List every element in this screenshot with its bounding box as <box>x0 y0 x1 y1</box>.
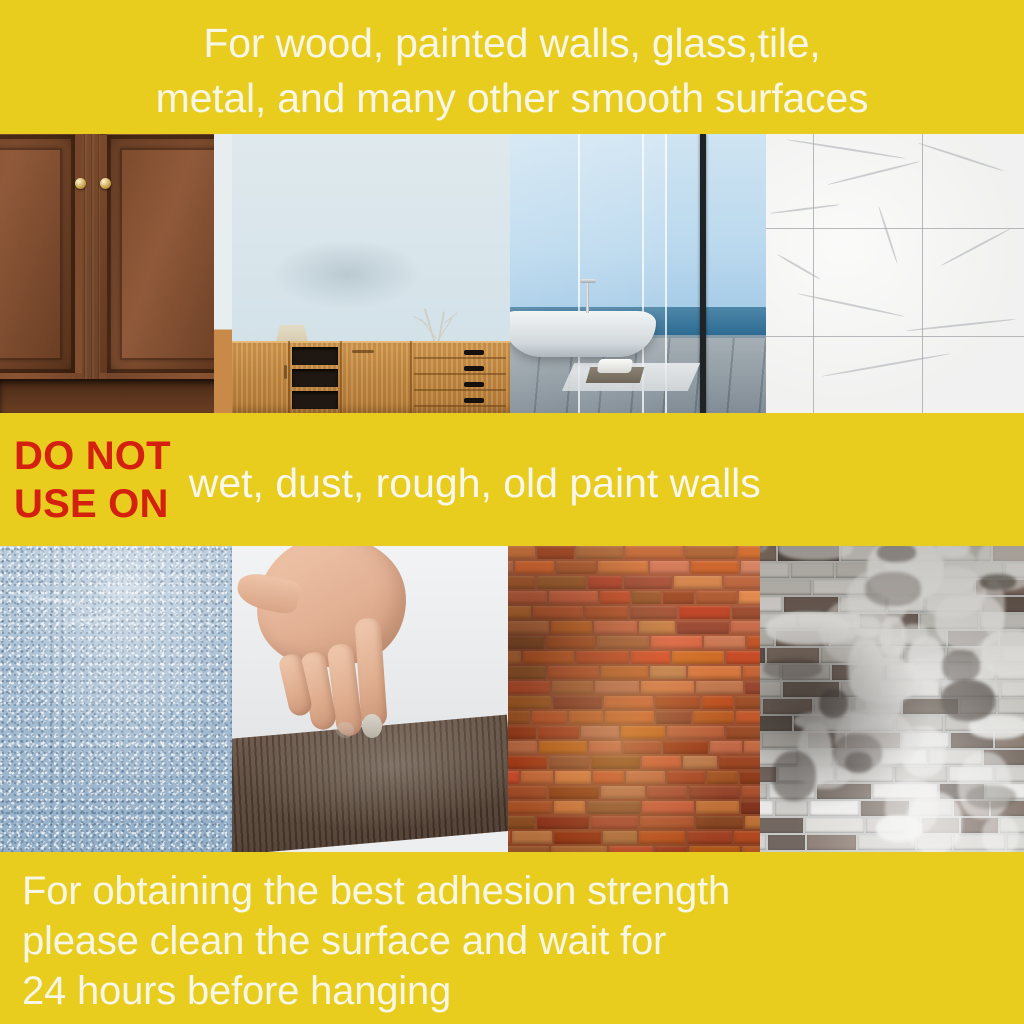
sideboard-seam-1 <box>288 341 290 413</box>
instructions-text: For obtaining the best adhesion strength… <box>22 866 1024 1016</box>
wall-shadow <box>272 239 422 309</box>
sideboard-seam-3 <box>410 341 412 413</box>
top-text-band: For wood, painted walls, glass,tile, met… <box>0 0 1024 134</box>
panel-old-paint-wall <box>760 546 1024 852</box>
suitable-surfaces-row <box>0 134 1024 413</box>
glass-frame-post <box>700 134 706 413</box>
tile-grout-vertical-1 <box>813 134 814 413</box>
tile-grout-horizontal-2 <box>766 336 1024 337</box>
panel-wet-surface <box>0 546 232 852</box>
drawer-line-1 <box>414 357 506 359</box>
sideboard-cubby-1 <box>292 347 338 365</box>
panel-marble-tile <box>766 134 1024 413</box>
panel-rough-brick-wall <box>508 546 760 852</box>
panel-glass-bathroom <box>510 134 766 413</box>
sideboard-seam-2 <box>340 341 342 413</box>
warning-text-band: DO NOT USE ON wet, dust, rough, old pain… <box>0 413 1024 546</box>
bottom-text-band: For obtaining the best adhesion strength… <box>0 852 1024 1024</box>
do-not-use-label: DO NOT USE ON <box>14 432 189 528</box>
tile-sheen <box>766 134 1024 413</box>
cabinet-base-moulding <box>0 379 232 413</box>
warning-surfaces-text: wet, dust, rough, old paint walls <box>189 453 1024 507</box>
drawer-line-4 <box>414 405 506 407</box>
water-streak-3 <box>100 576 150 600</box>
panel-dusty-surface <box>232 546 508 852</box>
cabinet-knob-left <box>75 178 86 189</box>
old-paint-lighting <box>760 546 1024 852</box>
drawer-slot-4 <box>464 398 484 403</box>
sideboard-handle <box>352 350 374 353</box>
drawer-slot-2 <box>464 366 484 371</box>
glass-pane-1 <box>510 134 578 413</box>
folded-towels <box>597 359 633 373</box>
tile-grout-vertical-2 <box>922 134 923 413</box>
fingernail-middle <box>336 722 354 738</box>
vase-branch-6 <box>444 313 457 324</box>
cabinet-knob-right <box>100 178 111 189</box>
tile-grout-horizontal-1 <box>766 228 1024 229</box>
dust-on-fingertip <box>362 714 382 738</box>
sideboard-cubby-3 <box>292 391 338 409</box>
unsuitable-surfaces-row <box>0 546 1024 852</box>
sideboard-handle-side <box>284 365 287 379</box>
cabinet-door-right <box>100 134 232 380</box>
tub-faucet-spout <box>580 279 596 283</box>
cabinet-door-left <box>0 134 82 380</box>
top-headline: For wood, painted walls, glass,tile, met… <box>18 16 1006 126</box>
tub-faucet-stem <box>586 279 589 313</box>
brick-lighting <box>508 546 760 852</box>
drawer-line-2 <box>414 373 506 375</box>
sideboard-cubby-2 <box>292 369 338 387</box>
product-infographic: For wood, painted walls, glass,tile, met… <box>0 0 1024 1024</box>
freestanding-bathtub <box>510 311 656 357</box>
panel-wood-cabinet <box>0 134 232 413</box>
drawer-slot-3 <box>464 382 484 387</box>
drawer-line-3 <box>414 389 506 391</box>
drawer-slot-1 <box>464 350 484 355</box>
cabinet-side-wall <box>214 134 232 413</box>
panel-painted-wall <box>232 134 510 413</box>
